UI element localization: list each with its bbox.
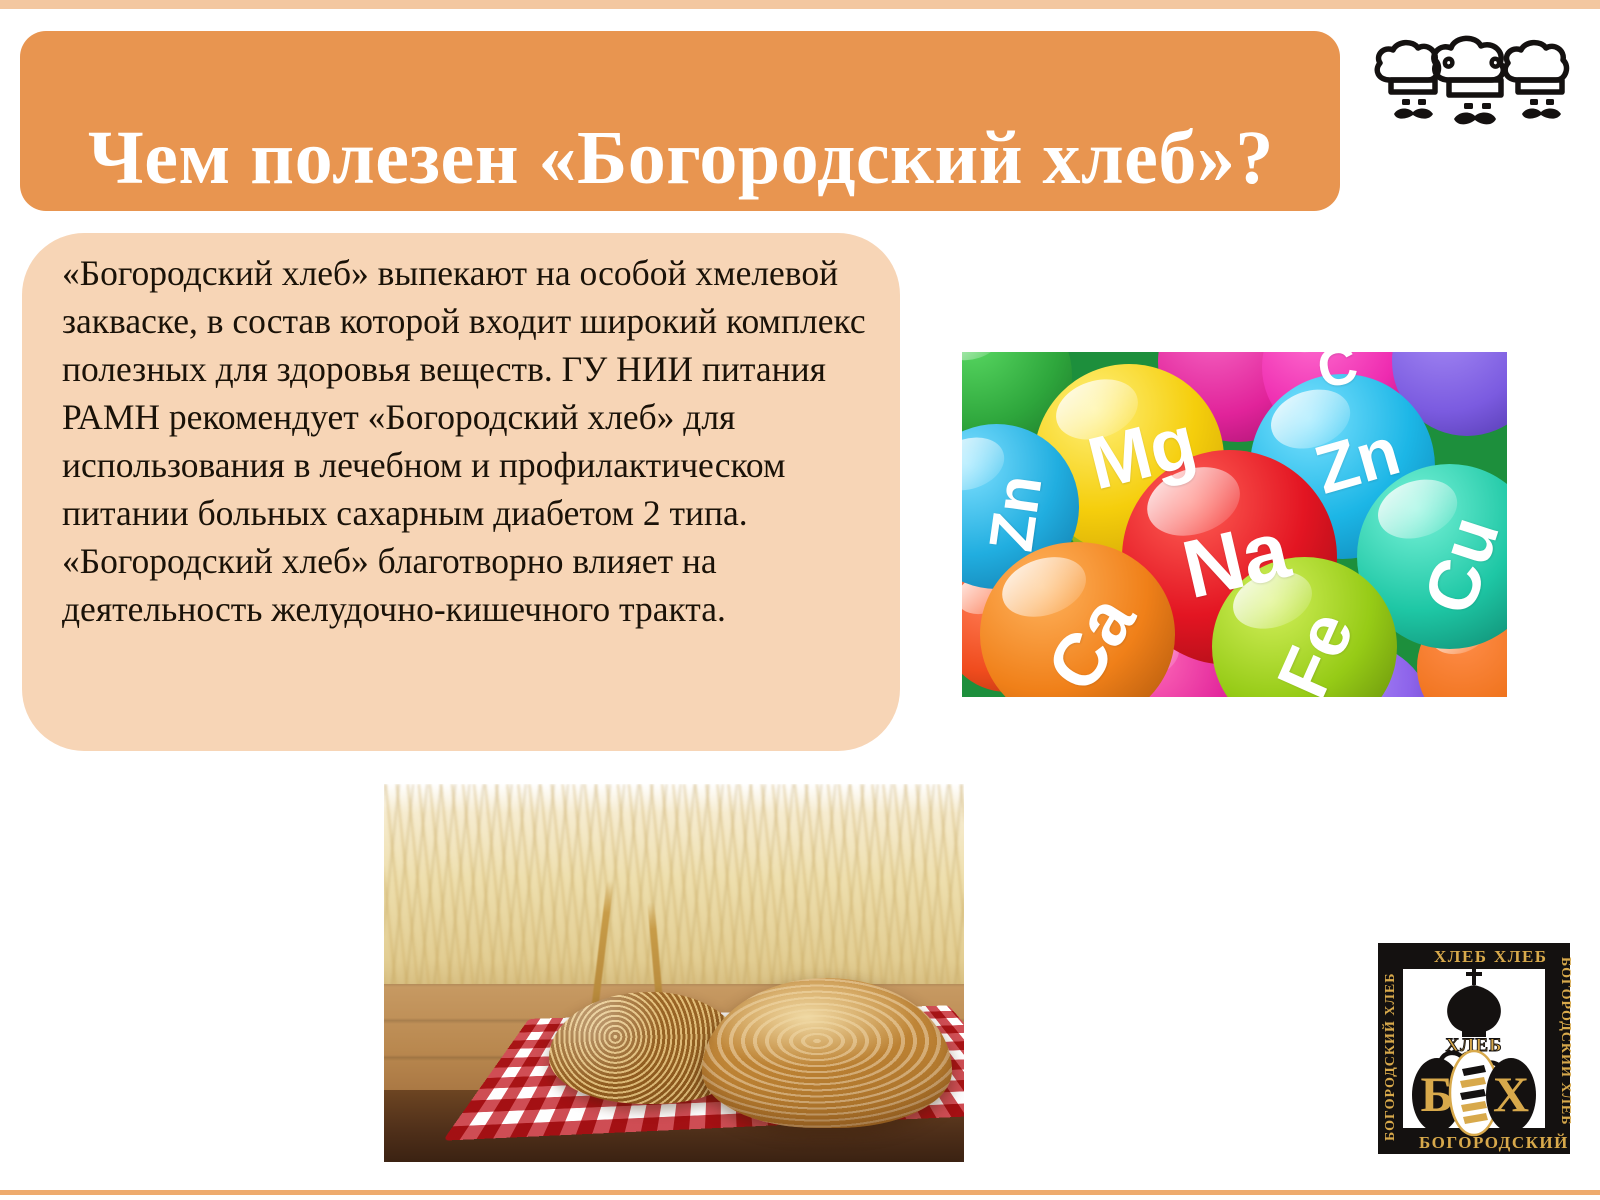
emblem-top-right-text: ХЛЕБ	[1494, 947, 1548, 966]
minerals-photo-inner: C Mg Zn Zn Na Cu C	[962, 352, 1507, 697]
title-banner: Чем полезен «Богородский хлеб»?	[20, 31, 1340, 211]
wheat-stalks	[384, 784, 964, 989]
top-decorative-band	[0, 0, 1600, 9]
emblem-letter-h: Х	[1493, 1066, 1529, 1122]
emblem-right-text: БОГОРОДСКИЙ ХЛЕБ	[1558, 957, 1572, 1125]
page-title: Чем полезен «Богородский хлеб»?	[88, 117, 1274, 199]
slide-canvas: Чем полезен «Богородский хлеб»?	[0, 0, 1600, 1200]
emblem-left-text: БОГОРОДСКИЙ ХЛЕБ	[1381, 973, 1398, 1141]
bread-photo	[384, 784, 964, 1162]
emblem-bottom-text: БОГОРОДСКИЙ	[1419, 1133, 1569, 1152]
body-paragraph: «Богородский хлеб» выпекают на особой хм…	[62, 249, 877, 633]
chef-hats-logo	[1372, 28, 1577, 128]
minerals-photo: C Mg Zn Zn Na Cu C	[962, 352, 1507, 697]
emblem-letter-b: Б	[1420, 1066, 1453, 1122]
body-text-card: «Богородский хлеб» выпекают на особой хм…	[22, 233, 900, 751]
bottom-decorative-line	[0, 1190, 1600, 1195]
emblem-top-left-text: ХЛЕБ	[1434, 947, 1488, 966]
bakery-emblem-logo: ХЛЕБ ХЛЕБ БОГОРОДСКИЙ БОГОРОДСКИЙ ХЛЕБ Б…	[1376, 941, 1572, 1156]
